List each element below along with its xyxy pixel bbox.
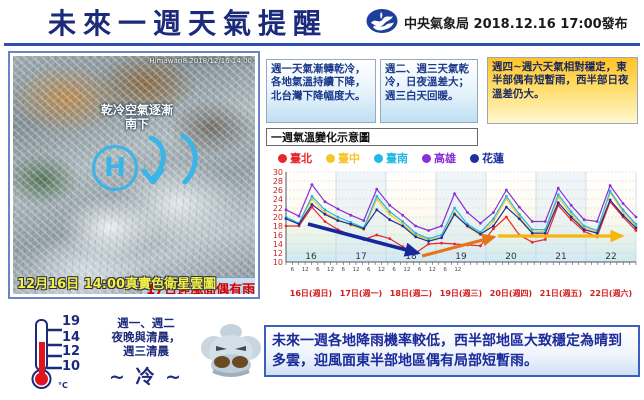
cwb-bird-logo-icon [366, 8, 398, 34]
legend-swatch-3 [422, 154, 431, 163]
legend-swatch-4 [470, 154, 479, 163]
page-title: 未來一週天氣提醒 [48, 2, 328, 42]
svg-text:19: 19 [455, 252, 467, 262]
svg-text:10: 10 [273, 258, 283, 267]
satellite-cloud-image: Himawari8 2018/12/16 14:00 乾冷空氣逐漸南下 H 17… [13, 56, 255, 294]
cold-period-note: 週一、週二夜晚與清晨，週三清晨 [98, 316, 194, 358]
legend-item-4: 花蓮 [470, 150, 504, 166]
chart-title: 一週氣溫變化示意圖 [266, 128, 478, 146]
svg-text:6: 6 [342, 267, 346, 273]
high-pressure-symbol: H [92, 145, 138, 191]
legend-item-2: 臺南 [374, 150, 408, 166]
satellite-credit: Himawari8 2018/12/16 14:00 [149, 57, 252, 65]
legend-item-0: 臺北 [278, 150, 312, 166]
thermo-reading-12: 12 [62, 344, 80, 359]
legend-label-0: 臺北 [290, 150, 312, 166]
thermo-reading-14: 14 [62, 330, 80, 345]
page-header: 未來一週天氣提醒 中央氣象局 2018.12.16 17:00發布 [0, 0, 644, 44]
temperature-chart: 1012141618202224262830612612612612612612… [264, 168, 640, 300]
svg-text:16日(週日): 16日(週日) [290, 289, 332, 298]
weekly-summary-box: 未來一週各地降雨機率較低，西半部地區大致穩定為晴到多雲，迎風面東半部地區偶有局部… [264, 325, 640, 377]
legend-swatch-2 [374, 154, 383, 163]
svg-text:6: 6 [392, 267, 396, 273]
legend-label-4: 花蓮 [482, 150, 504, 166]
cold-cloud-face-icon [200, 322, 262, 386]
satellite-caption: 12月16日 14:00真實色衛星雲圖 [17, 273, 216, 292]
svg-text:17日(週一): 17日(週一) [340, 289, 382, 298]
svg-text:6: 6 [291, 267, 295, 273]
header-divider [4, 43, 640, 46]
chart-legend: 臺北臺中臺南高雄花蓮 [268, 150, 640, 166]
svg-text:16: 16 [273, 231, 283, 240]
forecast-box-thu-sat: 週四~週六天氣相對穩定，東半部偶有短暫雨，西半部日夜溫差仍大。 [487, 57, 638, 124]
svg-text:18: 18 [273, 222, 283, 231]
svg-text:6: 6 [418, 267, 422, 273]
svg-text:6: 6 [316, 267, 320, 273]
svg-text:24: 24 [273, 195, 283, 204]
svg-text:30: 30 [273, 168, 283, 177]
forecast-box-monday: 週一天氣漸轉乾冷，各地氣溫持續下降，北台灣下降幅度大。 [266, 59, 376, 123]
svg-text:12: 12 [353, 267, 360, 273]
svg-text:12: 12 [273, 249, 283, 258]
weather-infographic: 未來一週天氣提醒 中央氣象局 2018.12.16 17:00發布 Himawa… [0, 0, 644, 400]
svg-text:6: 6 [367, 267, 371, 273]
legend-label-3: 高雄 [434, 150, 456, 166]
svg-text:18日(週二): 18日(週二) [390, 289, 432, 298]
legend-swatch-1 [326, 154, 335, 163]
thermo-reading-10: 10 [62, 359, 80, 374]
svg-text:12: 12 [302, 267, 309, 273]
legend-item-3: 高雄 [422, 150, 456, 166]
thermo-reading-19: 19 [62, 314, 80, 329]
svg-text:21: 21 [555, 252, 566, 262]
svg-text:6: 6 [443, 267, 447, 273]
svg-text:14: 14 [273, 240, 283, 249]
svg-text:12: 12 [327, 267, 334, 273]
svg-text:12: 12 [429, 267, 436, 273]
svg-text:22日(週六): 22日(週六) [590, 288, 632, 298]
legend-swatch-0 [278, 154, 287, 163]
agency-datetime: 中央氣象局 2018.12.16 17:00發布 [404, 13, 628, 32]
svg-text:16: 16 [305, 252, 317, 262]
svg-text:12: 12 [403, 267, 410, 273]
cold-emphasis-text: ~ 冷 ~ [96, 362, 196, 389]
cold-air-annotation: 乾冷空氣逐漸南下 [71, 103, 203, 131]
forecast-box-tue-wed: 週二、週三天氣乾冷，日夜溫差大；週三白天回暖。 [380, 59, 478, 123]
airflow-arrows-icon [133, 132, 213, 204]
svg-text:20日(週四): 20日(週四) [490, 289, 532, 298]
legend-label-2: 臺南 [386, 150, 408, 166]
legend-item-1: 臺中 [326, 150, 360, 166]
svg-text:28: 28 [273, 177, 283, 186]
temperature-chart-svg: 1012141618202224262830612612612612612612… [264, 168, 640, 300]
svg-text:19日(週三): 19日(週三) [440, 289, 482, 298]
svg-text:12: 12 [454, 267, 461, 273]
svg-text:17: 17 [355, 252, 366, 262]
svg-text:21日(週五): 21日(週五) [540, 289, 582, 298]
svg-text:22: 22 [273, 204, 283, 213]
svg-text:12: 12 [378, 267, 385, 273]
svg-text:26: 26 [273, 186, 283, 195]
svg-text:22: 22 [605, 252, 616, 262]
legend-label-1: 臺中 [338, 150, 360, 166]
svg-text:20: 20 [505, 252, 517, 262]
thermometer-unit: °C [58, 381, 68, 390]
svg-text:20: 20 [273, 213, 283, 222]
satellite-image-panel: Himawari8 2018/12/16 14:00 乾冷空氣逐漸南下 H 17… [8, 51, 260, 299]
